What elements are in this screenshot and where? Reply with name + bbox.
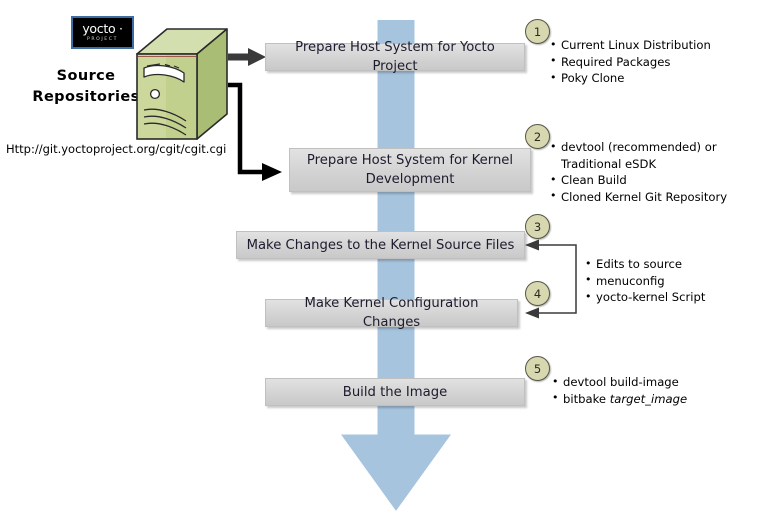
bullet-item: menuconfig (585, 273, 705, 290)
source-repositories-url: Http://git.yoctoproject.org/cgit/cgit.cg… (6, 142, 226, 156)
process-box-step-1[interactable]: Prepare Host System for Yocto Project (265, 43, 525, 71)
yocto-project-logo: yocto · PROJECT (71, 16, 134, 49)
bullet-item: Traditional eSDK (550, 156, 727, 173)
step-number-3: 3 (525, 214, 550, 239)
bullet-list-steps-3-4: Edits to sourcemenuconfigyocto-kernel Sc… (585, 256, 705, 306)
bullet-item: devtool (recommended) or (550, 139, 727, 156)
bullet-item: Clean Build (550, 172, 727, 189)
step-number-2: 2 (525, 124, 550, 149)
process-box-step-5[interactable]: Build the Image (265, 378, 525, 406)
server-tower-icon (134, 26, 230, 142)
source-repositories-label: Source Repositories (26, 66, 146, 108)
diagram-canvas: yocto · PROJECT Source Repositories Http… (0, 0, 769, 517)
bullet-item-emphasis: target_image (610, 392, 687, 406)
yocto-logo-wordmark: yocto · (73, 22, 132, 35)
bullet-item: Current Linux Distribution (550, 37, 711, 54)
process-box-step-3[interactable]: Make Changes to the Kernel Source Files (236, 231, 525, 259)
step-number-5: 5 (525, 356, 550, 381)
step-number-4: 4 (525, 281, 550, 306)
bullet-list-step-5: devtool build-imagebitbake target_image (552, 374, 687, 407)
process-box-step-2[interactable]: Prepare Host System for Kernel Developme… (289, 148, 531, 192)
process-box-step-4[interactable]: Make Kernel Configuration Changes (265, 299, 518, 327)
bullet-list-step-2: devtool (recommended) orTraditional eSDK… (550, 139, 727, 205)
bullet-item: devtool build-image (552, 374, 687, 391)
bullet-item: yocto-kernel Script (585, 289, 705, 306)
bullet-list-step-1: Current Linux DistributionRequired Packa… (550, 37, 711, 87)
yocto-logo-subtext: PROJECT (73, 37, 132, 42)
source-repositories-label-line1: Source (26, 66, 146, 87)
bullet-item: Edits to source (585, 256, 705, 273)
step-number-1: 1 (525, 19, 550, 44)
main-flow-arrow (337, 20, 455, 515)
source-repositories-label-line2: Repositories (26, 87, 146, 108)
bullet-item: Required Packages (550, 54, 711, 71)
bullet-item: bitbake target_image (552, 391, 687, 408)
bullet-item: Poky Clone (550, 70, 711, 87)
bullet-item: Cloned Kernel Git Repository (550, 189, 727, 206)
